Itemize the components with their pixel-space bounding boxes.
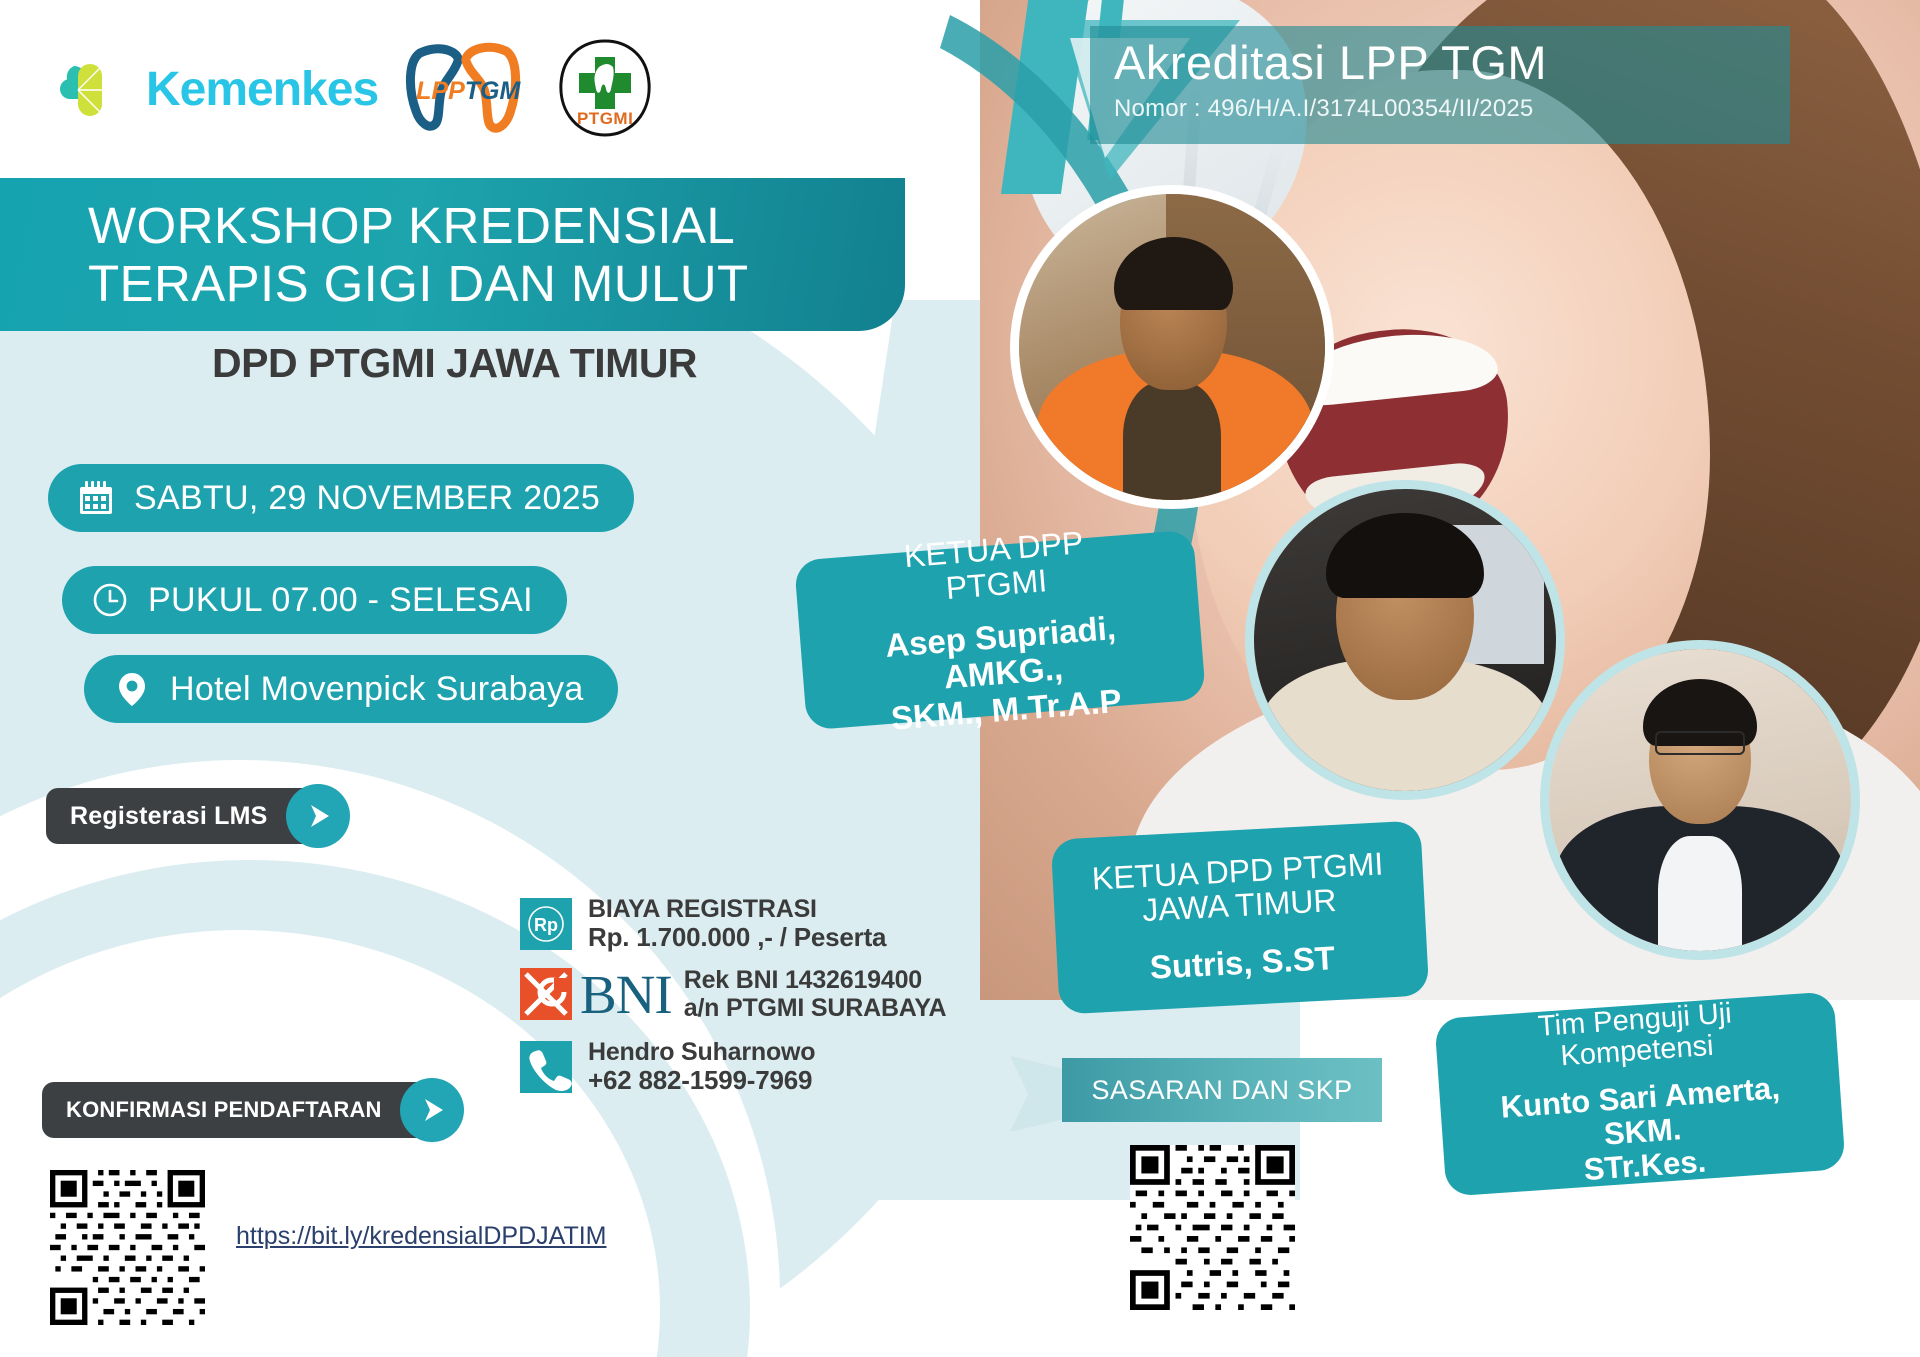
kemenkes-logo-icon bbox=[50, 50, 128, 128]
avatar-sutris bbox=[1245, 480, 1565, 800]
lpp-tgm-text: LPPTGM bbox=[416, 79, 520, 104]
event-date-pill: SABTU, 29 NOVEMBER 2025 bbox=[48, 464, 634, 532]
clock-icon bbox=[88, 578, 132, 622]
qr-code-sasaran-skp[interactable] bbox=[1130, 1145, 1295, 1310]
rupiah-icon: Rp bbox=[520, 898, 572, 950]
accreditation-title: Akreditasi LPP TGM bbox=[1114, 38, 1766, 87]
speaker-role-2: Tim Penguji Uji Kompetensi bbox=[1537, 998, 1735, 1074]
lpp-tgm-logo-icon: LPPTGM bbox=[402, 39, 527, 139]
registration-fee-label: BIAYA REGISTRASI bbox=[588, 895, 886, 923]
arrow-right-icon[interactable] bbox=[400, 1078, 464, 1142]
ptgmi-logo-icon: PTGMI bbox=[553, 37, 657, 141]
event-place-text: Hotel Movenpick Surabaya bbox=[170, 670, 584, 709]
title-line-2: TERAPIS GIGI DAN MULUT bbox=[88, 255, 905, 312]
speaker-role-1: KETUA DPD PTGMI JAWA TIMUR bbox=[1091, 846, 1386, 930]
avatar-kunto-sari-amerta bbox=[1540, 640, 1860, 960]
event-title-banner: WORKSHOP KREDENSIAL TERAPIS GIGI DAN MUL… bbox=[0, 178, 905, 331]
contact-name: Hendro Suharnowo bbox=[588, 1038, 815, 1066]
contact-row: Hendro Suharnowo +62 882-1599-7969 bbox=[520, 1038, 946, 1095]
registerasi-lms-button[interactable]: Registerasi LMS bbox=[46, 788, 324, 844]
accreditation-number: Nomor : 496/H/A.I/3174L00354/II/2025 bbox=[1114, 95, 1766, 123]
svg-text:Rp: Rp bbox=[534, 915, 558, 935]
location-pin-icon bbox=[110, 667, 154, 711]
bni-logo-icon bbox=[520, 968, 572, 1020]
event-time-pill: PUKUL 07.00 - SELESAI bbox=[62, 566, 567, 634]
title-line-1: WORKSHOP KREDENSIAL bbox=[88, 197, 905, 254]
lpp-text: LPP bbox=[416, 77, 465, 105]
ptgmi-label: PTGMI bbox=[553, 109, 657, 129]
accreditation-banner: Akreditasi LPP TGM Nomor : 496/H/A.I/317… bbox=[1090, 26, 1790, 144]
tgm-text: TGM bbox=[465, 77, 521, 105]
event-date-text: SABTU, 29 NOVEMBER 2025 bbox=[134, 479, 600, 518]
sasaran-skp-band: SASARAN DAN SKP bbox=[1062, 1058, 1382, 1122]
speaker-card-ketua-dpp: KETUA DPP PTGMI Asep Supriadi, AMKG., SK… bbox=[794, 530, 1206, 731]
phone-icon bbox=[520, 1041, 572, 1093]
sasaran-skp-label: SASARAN DAN SKP bbox=[1091, 1075, 1352, 1106]
bank-account-row: BNI Rek BNI 1432619400 a/n PTGMI SURABAY… bbox=[520, 966, 946, 1022]
arrow-right-icon[interactable] bbox=[286, 784, 350, 848]
kemenkes-wordmark: Kemenkes bbox=[146, 62, 378, 117]
contact-text: Hendro Suharnowo +62 882-1599-7969 bbox=[588, 1038, 815, 1095]
registration-info-block: Rp BIAYA REGISTRASI Rp. 1.700.000 ,- / P… bbox=[520, 895, 946, 1109]
speaker-card-tim-penguji: Tim Penguji Uji Kompetensi Kunto Sari Am… bbox=[1434, 991, 1845, 1196]
registration-link[interactable]: https://bit.ly/kredensialDPDJATIM bbox=[236, 1222, 606, 1251]
speaker-name-2: Kunto Sari Amerta, SKM. STr.Kes. bbox=[1462, 1069, 1824, 1196]
logo-bar: Kemenkes LPPTGM PTGMI bbox=[50, 34, 657, 144]
speaker-name-1: Sutris, S.ST bbox=[1149, 940, 1336, 986]
qr-code-registration[interactable] bbox=[50, 1170, 205, 1325]
avatar-asep-supriadi bbox=[1010, 185, 1334, 509]
calendar-icon bbox=[74, 476, 118, 520]
event-place-pill: Hotel Movenpick Surabaya bbox=[84, 655, 618, 723]
registration-fee-value: Rp. 1.700.000 ,- / Peserta bbox=[588, 923, 886, 952]
bank-account-number: Rek BNI 1432619400 bbox=[684, 966, 947, 994]
bni-wordmark: BNI bbox=[580, 967, 672, 1022]
registration-fee-row: Rp BIAYA REGISTRASI Rp. 1.700.000 ,- / P… bbox=[520, 895, 946, 952]
speaker-role-0: KETUA DPP PTGMI bbox=[903, 525, 1087, 608]
event-subtitle: DPD PTGMI JAWA TIMUR bbox=[212, 340, 697, 387]
event-time-text: PUKUL 07.00 - SELESAI bbox=[148, 581, 533, 620]
speaker-card-ketua-dpd: KETUA DPD PTGMI JAWA TIMUR Sutris, S.ST bbox=[1051, 820, 1430, 1014]
konfirmasi-pendaftaran-label: KONFIRMASI PENDAFTARAN bbox=[66, 1097, 382, 1123]
bank-account-holder: a/n PTGMI SURABAYA bbox=[684, 994, 947, 1022]
bank-account-text: Rek BNI 1432619400 a/n PTGMI SURABAYA bbox=[684, 966, 947, 1022]
contact-phone: +62 882-1599-7969 bbox=[588, 1066, 815, 1095]
registerasi-lms-label: Registerasi LMS bbox=[70, 802, 268, 831]
konfirmasi-pendaftaran-button[interactable]: KONFIRMASI PENDAFTARAN bbox=[42, 1082, 438, 1138]
registration-fee-text: BIAYA REGISTRASI Rp. 1.700.000 ,- / Pese… bbox=[588, 895, 886, 952]
poster-root: Akreditasi LPP TGM Nomor : 496/H/A.I/317… bbox=[0, 0, 1920, 1357]
